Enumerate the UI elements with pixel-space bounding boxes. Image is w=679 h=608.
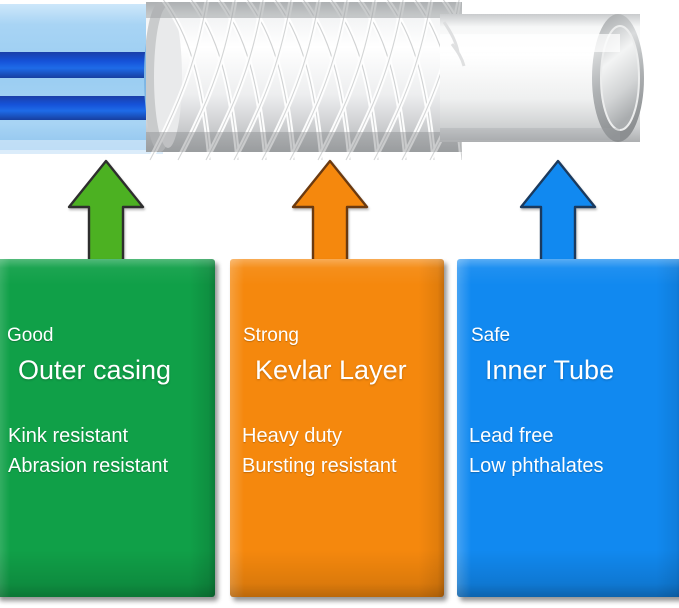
panel-kevlar-feature-1: Heavy duty bbox=[242, 424, 342, 448]
hose-cutaway-graphic bbox=[0, 0, 679, 168]
panel-outer-casing-feature-2: Abrasion resistant bbox=[8, 454, 168, 478]
panel-inner-tube-qualifier: Safe bbox=[471, 325, 510, 347]
panel-kevlar-content: Strong Kevlar Layer Heavy duty Bursting … bbox=[230, 259, 444, 597]
panel-inner-tube-feature-1: Lead free bbox=[469, 424, 554, 448]
panel-outer-casing-title: Outer casing bbox=[18, 355, 171, 385]
panel-kevlar-feature-2: Bursting resistant bbox=[242, 454, 397, 478]
panel-outer-casing-feature-1: Kink resistant bbox=[8, 424, 128, 448]
panel-kevlar-title: Kevlar Layer bbox=[255, 355, 407, 385]
panel-inner-tube-content: Safe Inner Tube Lead free Low phthalates bbox=[457, 259, 679, 597]
arrow-up-kevlar-icon bbox=[290, 158, 370, 268]
panel-kevlar-qualifier: Strong bbox=[243, 325, 299, 347]
panel-outer-casing: Good Outer casing Kink resistant Abrasio… bbox=[0, 259, 215, 597]
panel-outer-casing-content: Good Outer casing Kink resistant Abrasio… bbox=[0, 259, 215, 597]
panel-inner-tube-title: Inner Tube bbox=[485, 355, 614, 385]
panel-inner-tube-feature-2: Low phthalates bbox=[469, 454, 604, 478]
hose-inner-tube-layer bbox=[440, 14, 644, 142]
arrow-up-outer-casing-icon bbox=[66, 158, 146, 268]
panel-inner-tube: Safe Inner Tube Lead free Low phthalates bbox=[457, 259, 679, 597]
hose-cutaway-illustration bbox=[0, 0, 679, 168]
arrow-up-inner-tube-icon bbox=[518, 158, 598, 268]
panel-kevlar: Strong Kevlar Layer Heavy duty Bursting … bbox=[230, 259, 444, 597]
hose-kevlar-braid-layer bbox=[144, 0, 490, 160]
panel-outer-casing-qualifier: Good bbox=[7, 325, 53, 347]
